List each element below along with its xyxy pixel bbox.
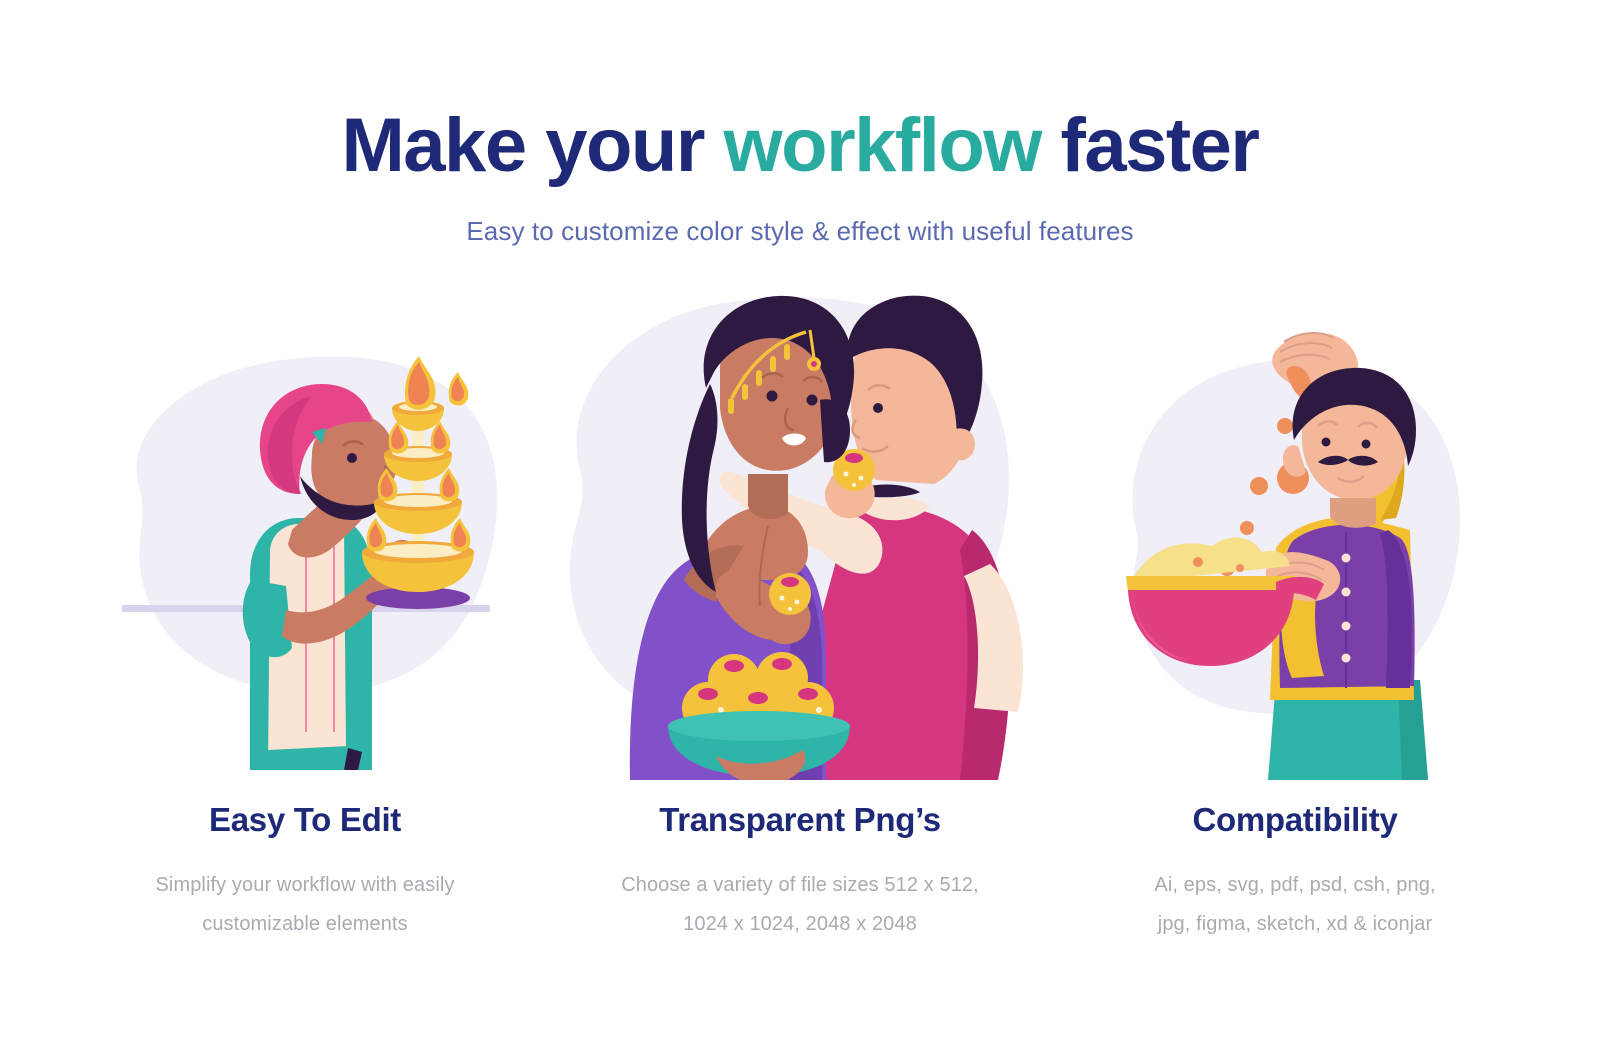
- laddoo-highlight-1: [718, 707, 724, 713]
- man-eye: [873, 403, 883, 413]
- headline-part-1: Make your: [341, 103, 723, 188]
- page-subtitle: Easy to customize color style & effect w…: [0, 216, 1600, 247]
- headline-part-2: faster: [1041, 103, 1259, 188]
- neck: [1330, 498, 1376, 528]
- illustration-row: [0, 280, 1600, 780]
- header: Make your workflow faster Easy to custom…: [0, 0, 1600, 247]
- eye: [347, 453, 357, 463]
- headpiece-drop-1: [728, 398, 734, 414]
- card-desc-line-1: Ai, eps, svg, pdf, psd, csh, png,: [1080, 866, 1510, 905]
- card-description-transparent-pngs: Choose a variety of file sizes 512 x 512…: [560, 866, 1040, 944]
- vest-button-4: [1342, 654, 1351, 663]
- woman-eye-right: [807, 395, 818, 406]
- card-title-compatibility: Compatibility: [1080, 800, 1510, 840]
- headpiece-drop-3: [756, 370, 762, 386]
- feature-card-transparent-pngs: Transparent Png’s Choose a variety of fi…: [540, 800, 1060, 944]
- laddoo-highlight-3: [816, 707, 822, 713]
- food-speck-1: [1193, 557, 1203, 567]
- man-laddoo-topping: [845, 453, 863, 463]
- laddoo-back-1-top: [724, 660, 744, 672]
- laddoo-back-2-top: [772, 658, 792, 670]
- feature-card-easy-to-edit: Easy To Edit Simplify your workflow with…: [70, 800, 540, 944]
- man-laddoo-dot-1: [844, 472, 849, 477]
- card-desc-line-1: Choose a variety of file sizes 512 x 512…: [560, 866, 1040, 905]
- laddoo-front-1-top: [698, 688, 718, 700]
- headline-accent-word: workflow: [724, 103, 1041, 188]
- kurta-hem: [268, 746, 350, 770]
- card-desc-line-2: jpg, figma, sketch, xd & iconjar: [1080, 905, 1510, 944]
- eye-right: [1362, 440, 1371, 449]
- card-desc-line-2: 1024 x 1024, 2048 x 2048: [560, 905, 1040, 944]
- spice-particle-3: [1250, 477, 1268, 495]
- page-title: Make your workflow faster: [0, 108, 1600, 184]
- headpiece-drop-5: [784, 344, 790, 360]
- woman-laddoo-dot-3: [788, 607, 792, 611]
- vest-button-1: [1342, 554, 1351, 563]
- card-desc-line-1: Simplify your workflow with easily: [90, 866, 520, 905]
- spice-particle-4: [1240, 521, 1254, 535]
- card-desc-line-2: customizable elements: [90, 905, 520, 944]
- vest-button-3: [1342, 622, 1351, 631]
- feature-card-compatibility: Compatibility Ai, eps, svg, pdf, psd, cs…: [1060, 800, 1530, 944]
- woman-eye-left: [767, 391, 778, 402]
- woman-neck: [748, 474, 788, 519]
- illustration-man-lighting-diya: [100, 280, 520, 780]
- illustration-couple-sharing-sweets: [520, 280, 1080, 780]
- illustration-man-sprinkling-spice: [1080, 280, 1500, 780]
- spice-particle-1: [1277, 418, 1293, 434]
- laddoo-front-3-top: [798, 688, 818, 700]
- card-title-transparent-pngs: Transparent Png’s: [560, 800, 1040, 840]
- headpiece-drop-2: [742, 384, 748, 400]
- woman-laddoo-dot-1: [780, 596, 785, 601]
- tier4-inner: [374, 544, 462, 558]
- feature-cards: Easy To Edit Simplify your workflow with…: [0, 800, 1600, 944]
- card-description-compatibility: Ai, eps, svg, pdf, psd, csh, png, jpg, f…: [1080, 866, 1510, 944]
- headpiece-drop-4: [770, 356, 776, 372]
- bowl-rim: [668, 711, 850, 741]
- tikka-gem: [811, 361, 817, 367]
- man-laddoo-dot-3: [852, 483, 856, 487]
- card-description-easy-to-edit: Simplify your workflow with easily custo…: [90, 866, 520, 944]
- promo-page: Make your workflow faster Easy to custom…: [0, 0, 1600, 1064]
- vest-button-2: [1342, 588, 1351, 597]
- bowl-rim-gold: [1126, 576, 1296, 592]
- man-laddoo-dot-2: [859, 476, 864, 481]
- food-speck-2: [1236, 564, 1244, 572]
- woman-laddoo-dot-2: [795, 600, 800, 605]
- laddoo-front-2-top: [748, 692, 768, 704]
- woman-laddoo-topping: [781, 577, 799, 587]
- eye-left: [1322, 438, 1331, 447]
- card-title-easy-to-edit: Easy To Edit: [90, 800, 520, 840]
